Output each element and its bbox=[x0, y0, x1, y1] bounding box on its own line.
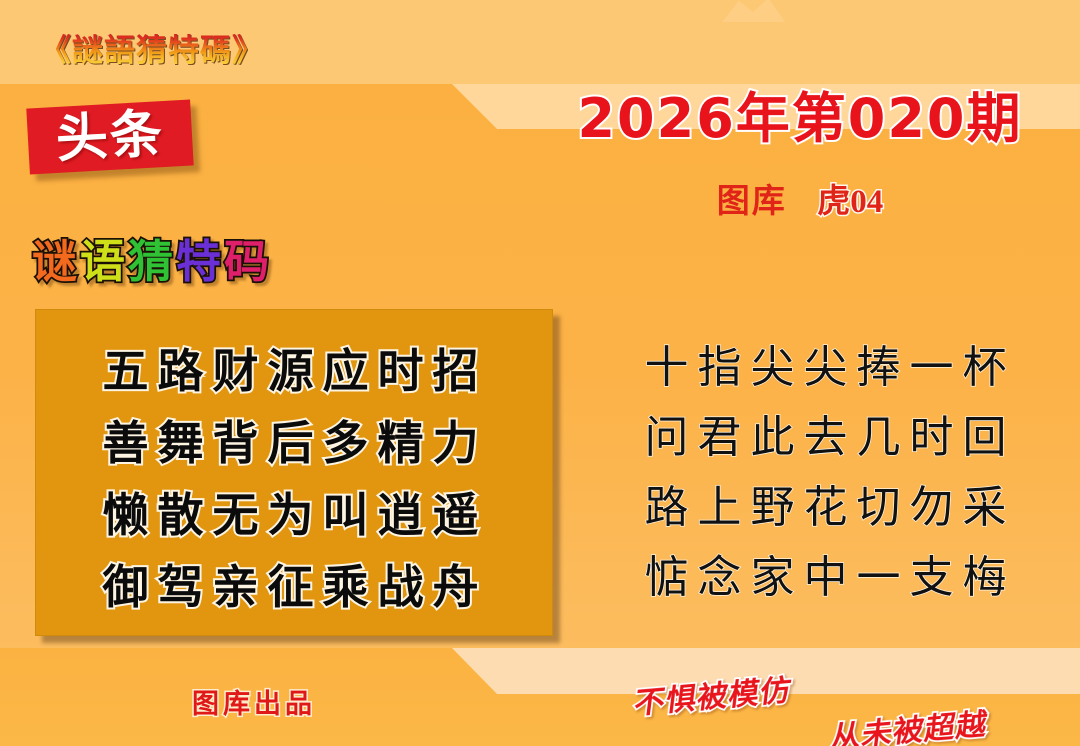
poem-block: 十指尖尖捧一杯 问君此去几时回 路上野花切勿采 惦念家中一支梅 bbox=[600, 333, 1060, 613]
poem-line: 路上野花切勿采 bbox=[600, 473, 1060, 543]
subtitle-char-5: 码 bbox=[224, 235, 272, 288]
riddle-line: 御驾亲征乘战舟 bbox=[36, 551, 554, 623]
library-label: 图库 bbox=[717, 184, 787, 220]
riddle-line: 五路财源应时招 bbox=[36, 335, 554, 407]
footer-credit: 图库出品 bbox=[192, 682, 316, 721]
subtitle-char-4: 特 bbox=[176, 235, 224, 288]
issue-number: 2026年第020期 bbox=[540, 74, 1060, 153]
poem-line: 惦念家中一支梅 bbox=[600, 543, 1060, 613]
subtitle-rainbow: 谜语猜特码 bbox=[32, 239, 272, 284]
subtitle-char-2: 语 bbox=[80, 235, 128, 288]
riddle-lines: 五路财源应时招 善舞背后多精力 懒散无为叫逍遥 御驾亲征乘战舟 bbox=[36, 335, 554, 623]
poster-canvas: 《謎語猜特碼》 《謎語猜特碼》 头条 2026年第020期 图库 虎04 谜语猜… bbox=[0, 0, 1080, 746]
riddle-box: 五路财源应时招 善舞背后多精力 懒散无为叫逍遥 御驾亲征乘战舟 bbox=[35, 309, 553, 636]
zodiac-badge: 虎04 bbox=[817, 184, 883, 220]
headline-badge: 头条 bbox=[26, 99, 193, 174]
poem-line: 问君此去几时回 bbox=[600, 403, 1060, 473]
riddle-line: 懒散无为叫逍遥 bbox=[36, 479, 554, 551]
riddle-line: 善舞背后多精力 bbox=[36, 407, 554, 479]
subtitle-char-1: 谜 bbox=[32, 235, 80, 288]
issue-subline: 图库 虎04 bbox=[540, 174, 1060, 222]
poem-line: 十指尖尖捧一杯 bbox=[600, 333, 1060, 403]
page-title: 《謎語猜特碼》 bbox=[40, 25, 264, 70]
subtitle-char-3: 猜 bbox=[128, 235, 176, 288]
headline-badge-label: 头条 bbox=[55, 108, 166, 166]
